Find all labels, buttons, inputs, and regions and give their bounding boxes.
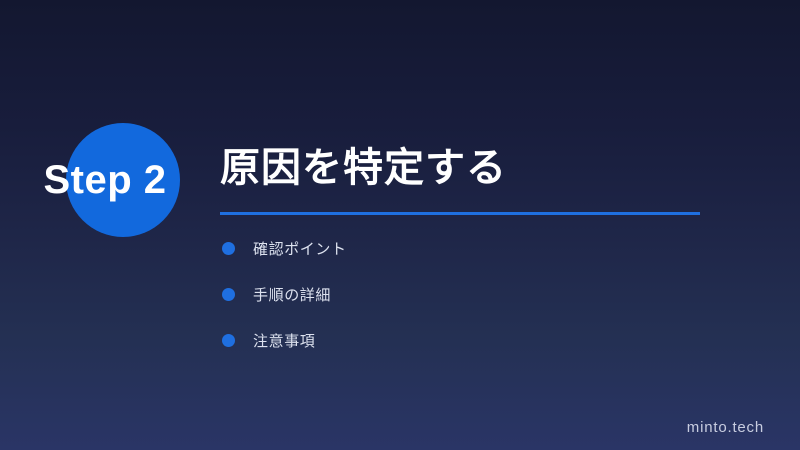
list-item-label: 注意事項 [253, 330, 315, 351]
list-item-label: 手順の詳細 [253, 284, 331, 305]
bullet-dot-icon [222, 288, 235, 301]
list-item: 確認ポイント [222, 235, 347, 261]
list-item-label: 確認ポイント [253, 238, 347, 259]
bullet-dot-icon [222, 242, 235, 255]
bullet-dot-icon [222, 334, 235, 347]
bullet-list: 確認ポイント 手順の詳細 注意事項 [222, 235, 347, 353]
step-badge: Step 2 [0, 110, 210, 250]
step-badge-label: Step 2 [0, 110, 210, 250]
list-item: 注意事項 [222, 327, 347, 353]
title-block: 原因を特定する [220, 143, 700, 215]
presentation-slide: Step 2 原因を特定する 確認ポイント 手順の詳細 注意事項 minto.t… [0, 0, 800, 450]
slide-title: 原因を特定する [220, 143, 700, 193]
title-divider [220, 212, 700, 215]
list-item: 手順の詳細 [222, 281, 347, 307]
footer-brand: minto.tech [687, 419, 764, 436]
